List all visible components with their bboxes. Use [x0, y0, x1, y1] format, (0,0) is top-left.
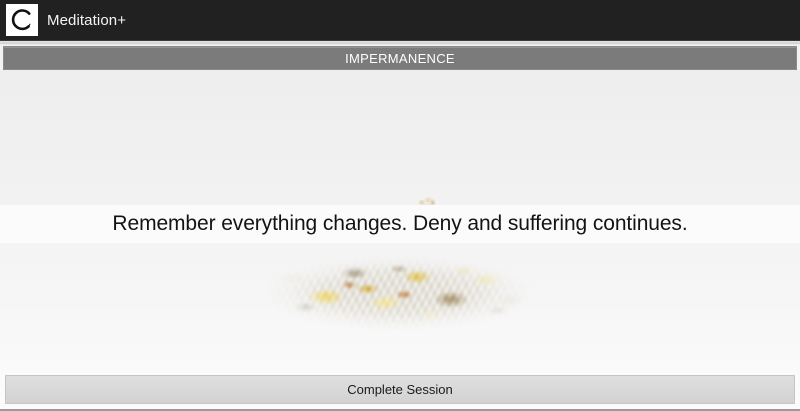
quote-band: Remember everything changes. Deny and su…	[0, 205, 800, 243]
quote-text: Remember everything changes. Deny and su…	[112, 212, 687, 236]
title-bar-divider	[0, 41, 800, 45]
leaf-texture-grain	[268, 252, 530, 334]
enso-circle-icon	[6, 4, 38, 36]
leaf-photo-blur-wrapper	[268, 252, 530, 334]
title-bar: Meditation+	[0, 0, 800, 41]
footer-bar: Complete Session	[0, 372, 800, 411]
section-header: IMPERMANENCE	[3, 46, 797, 70]
content-area: Remember everything changes. Deny and su…	[0, 70, 800, 372]
app-window: Meditation+ IMPERMANENCE Remember everyt…	[0, 0, 800, 411]
complete-session-label: Complete Session	[347, 383, 453, 396]
app-title: Meditation+	[47, 13, 126, 28]
autumn-leaves-photo	[268, 252, 530, 334]
section-header-label: IMPERMANENCE	[345, 52, 455, 65]
complete-session-button[interactable]: Complete Session	[5, 375, 795, 404]
